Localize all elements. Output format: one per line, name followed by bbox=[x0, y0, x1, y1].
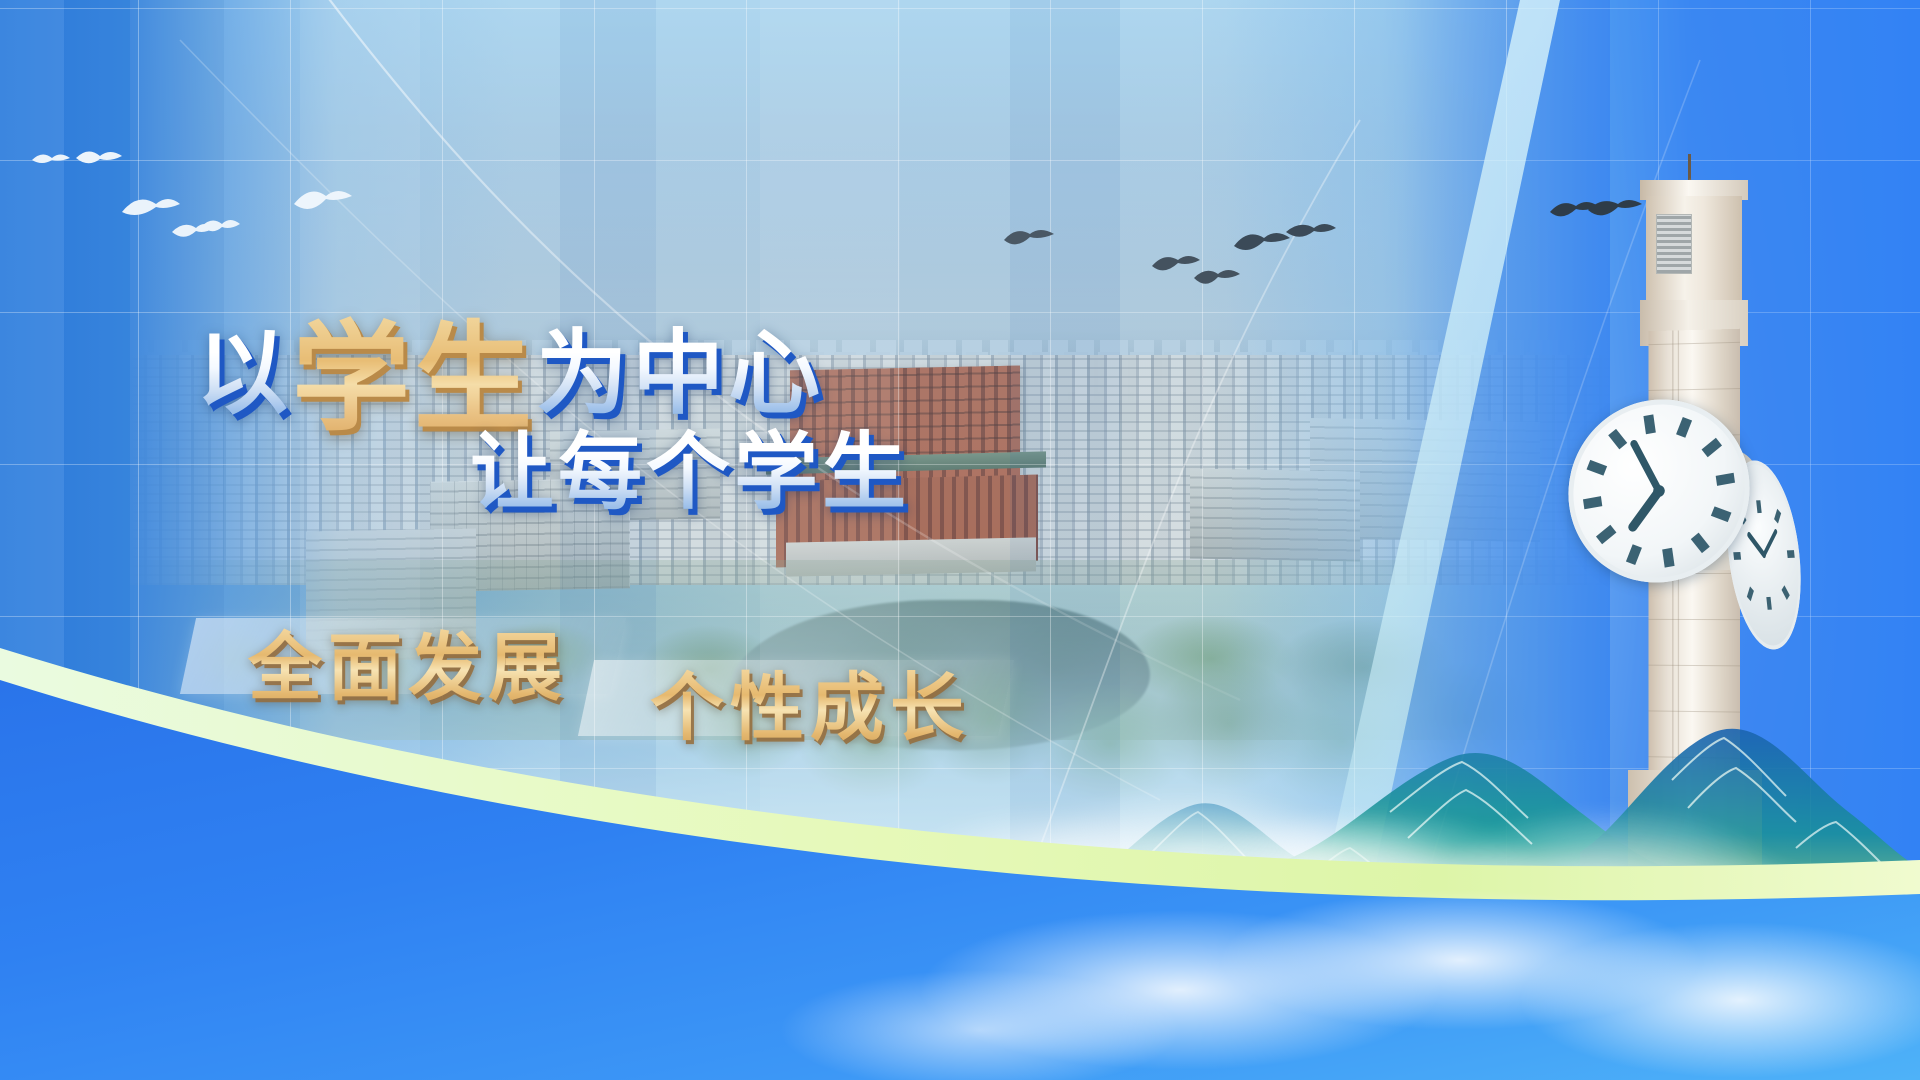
subtitle-char-4-3: 长 bbox=[890, 648, 970, 755]
subtitle-char-4-0: 个 bbox=[650, 648, 730, 755]
subtitle-char-3-2: 发 bbox=[408, 608, 488, 715]
clock-minute-hand bbox=[1634, 441, 1659, 495]
subtitle-char-3-0: 全 bbox=[248, 608, 328, 715]
tower-louvre-vent bbox=[1656, 214, 1692, 274]
headline-char-2-3: 学 bbox=[734, 405, 822, 526]
subtitle-char-4-1: 性 bbox=[730, 648, 810, 755]
bird-flock-right-2-icon bbox=[1150, 248, 1246, 296]
headline-char-1-0: 以 bbox=[196, 299, 292, 432]
headline-char-2-4: 生 bbox=[822, 405, 910, 526]
subtitle-left: 全面发展 bbox=[248, 608, 568, 715]
headline-line-2: 让每个学生 bbox=[470, 405, 910, 526]
subtitle-right: 个性成长 bbox=[650, 648, 970, 755]
headline-char-1-1: 学 bbox=[292, 282, 414, 453]
headline-char-2-1: 每 bbox=[558, 405, 646, 526]
headline-char-2-2: 个 bbox=[646, 405, 734, 526]
subtitle-char-3-1: 面 bbox=[328, 608, 408, 715]
headline-char-2-0: 让 bbox=[470, 405, 558, 526]
subtitle-char-4-2: 成 bbox=[810, 648, 890, 755]
subtitle-char-3-3: 展 bbox=[488, 608, 568, 715]
bird-flock-right-icon bbox=[1232, 220, 1342, 276]
banner-canvas: 以学生为中心 让每个学生 全面发展 个性成长 bbox=[0, 0, 1920, 1080]
headline-block: 以学生为中心 让每个学生 全面发展 个性成长 bbox=[0, 0, 1100, 780]
